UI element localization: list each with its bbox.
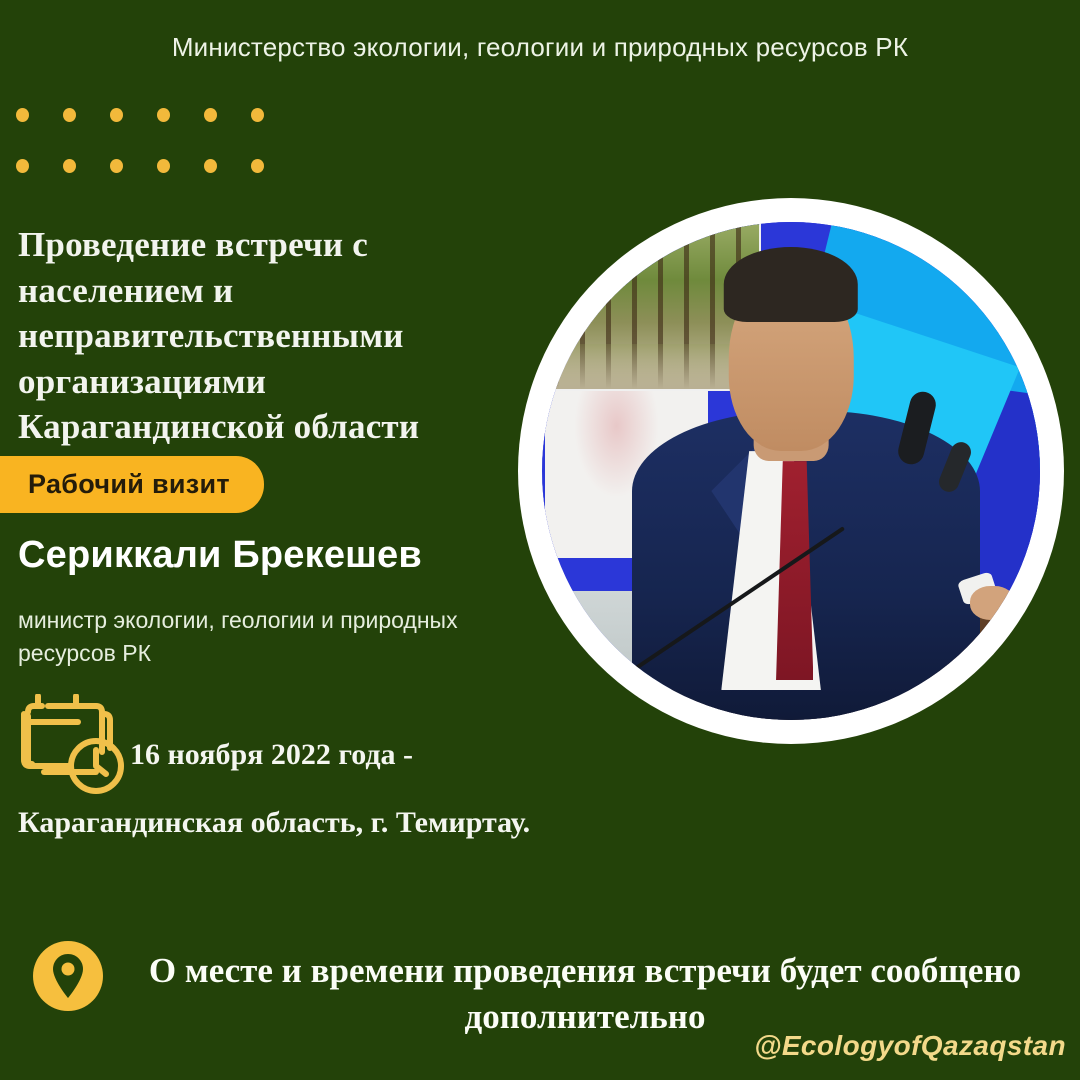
dot-icon [16,159,29,173]
organization-header: Министерство экологии, геологии и природ… [0,32,1080,63]
portrait-frame [518,198,1064,744]
dot-icon [110,108,123,122]
dot-icon [63,159,76,173]
dot-icon [204,108,217,122]
social-handle: @EcologyofQazaqstan [754,1030,1066,1062]
dot-grid-decoration [16,108,298,210]
dot-icon [157,159,170,173]
person-name: Сериккали Брекешев [18,534,422,577]
person-role: министр экологии, геологии и природных р… [18,604,558,671]
footer-note-line2: дополнительно [465,997,706,1036]
dot-icon [251,159,264,173]
footer-note: О месте и времени проведения встречи буд… [110,948,1060,1040]
event-place: Карагандинская область, г. Темиртау. [18,806,530,840]
location-pin-icon [32,940,104,1012]
portrait-photo [542,222,1040,720]
page-title: Проведение встречи с населением и неправ… [18,222,488,450]
dot-icon [157,108,170,122]
footer-note-line1: О месте и времени проведения встречи буд… [149,951,1021,990]
dot-icon [110,159,123,173]
dot-icon [251,108,264,122]
dot-icon [63,108,76,122]
calendar-clock-icon [18,694,128,794]
dot-icon [204,159,217,173]
poster-canvas: Министерство экологии, геологии и природ… [0,0,1080,1080]
status-badge: Рабочий визит [0,456,264,513]
dot-icon [16,108,29,122]
event-date: 16 ноября 2022 года - [130,738,413,772]
